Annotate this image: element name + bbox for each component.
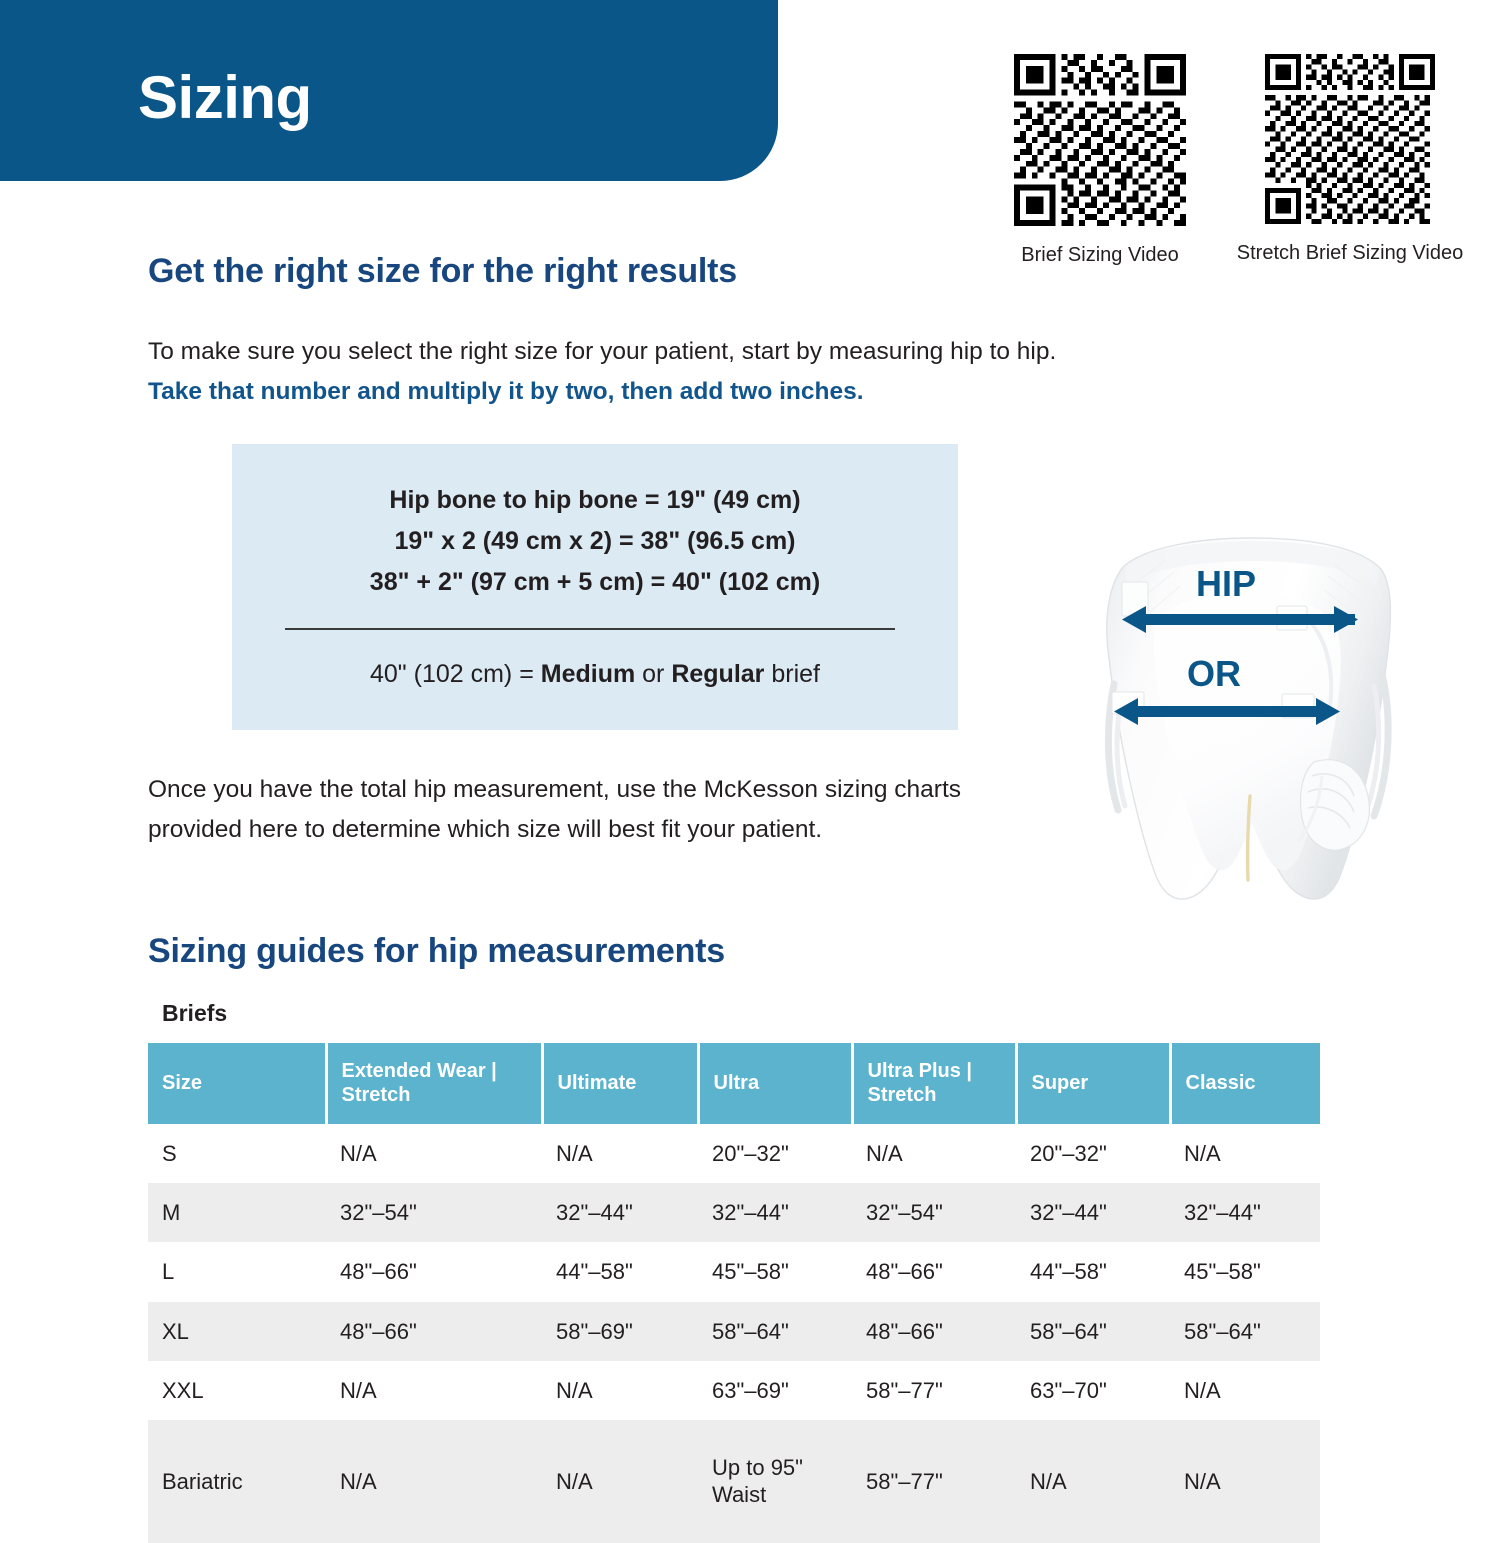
sizing-guides-heading: Sizing guides for hip measurements [148,932,725,971]
column-header-classic: Classic [1170,1043,1320,1124]
calc-result-suffix: brief [764,660,820,688]
brief-diagram-icon: HIP OR [1062,524,1438,910]
cell-size: M [148,1183,326,1242]
calc-result-size: Medium [541,660,635,688]
cell-size: S [148,1124,326,1183]
table-row: XXL N/A N/A 63"–69" 58"–77" 63"–70" N/A [148,1361,1320,1420]
cell-classic: N/A [1170,1361,1320,1420]
qr-caption: Stretch Brief Sizing Video [1180,240,1500,266]
cell-classic: 45"–58" [1170,1242,1320,1301]
cell-ultra-plus: N/A [852,1124,1016,1183]
cell-extended-wear: N/A [326,1420,542,1543]
calc-divider [285,628,895,630]
calc-line-3: 38" + 2" (97 cm + 5 cm) = 40" (102 cm) [232,570,958,595]
cell-ultra-plus: 48"–66" [852,1242,1016,1301]
table-row: XL 48"–66" 58"–69" 58"–64" 48"–66" 58"–6… [148,1302,1320,1361]
calc-result: 40" (102 cm) = Medium or Regular brief [232,662,958,687]
intro-text-normal: To make sure you select the right size f… [148,338,1056,365]
cell-extended-wear: N/A [326,1361,542,1420]
cell-ultra: 63"–69" [698,1361,852,1420]
cell-ultra-plus: 32"–54" [852,1183,1016,1242]
cell-ultimate: N/A [542,1420,698,1543]
table-row: Bariatric N/A N/A Up to 95" Waist 58"–77… [148,1420,1320,1543]
qr-code-icon[interactable] [1265,54,1435,224]
cell-ultimate: N/A [542,1361,698,1420]
cell-super: 58"–64" [1016,1302,1170,1361]
qr-code-icon[interactable] [1014,54,1186,226]
cell-size: Bariatric [148,1420,326,1543]
cell-ultra-plus: 48"–66" [852,1302,1016,1361]
calc-result-conjunction: or [635,660,671,688]
cell-classic: N/A [1170,1124,1320,1183]
or-label: OR [1187,653,1241,694]
cell-extended-wear: N/A [326,1124,542,1183]
column-header-extended-wear-stretch: Extended Wear | Stretch [326,1043,542,1124]
column-header-ultra-plus-stretch: Ultra Plus | Stretch [852,1043,1016,1124]
calc-line-1: Hip bone to hip bone = 19" (49 cm) [232,488,958,513]
qr-block-stretch-brief-sizing-video[interactable]: Stretch Brief Sizing Video [1180,54,1500,266]
cell-size: XL [148,1302,326,1361]
cell-classic: 58"–64" [1170,1302,1320,1361]
cell-ultimate: 32"–44" [542,1183,698,1242]
cell-classic: 32"–44" [1170,1183,1320,1242]
cell-extended-wear: 48"–66" [326,1302,542,1361]
table-row: M 32"–54" 32"–44" 32"–44" 32"–54" 32"–44… [148,1183,1320,1242]
calculation-box: Hip bone to hip bone = 19" (49 cm) 19" x… [232,444,958,730]
cell-ultimate: N/A [542,1124,698,1183]
cell-super: 44"–58" [1016,1242,1170,1301]
intro-text-emphasis: Take that number and multiply it by two,… [148,378,864,405]
cell-size: L [148,1242,326,1301]
column-header-size: Size [148,1043,326,1124]
cell-ultra: Up to 95" Waist [698,1420,852,1543]
calc-result-style: Regular [671,660,764,688]
column-header-ultra: Ultra [698,1043,852,1124]
table-row: L 48"–66" 44"–58" 45"–58" 48"–66" 44"–58… [148,1242,1320,1301]
table-row: S N/A N/A 20"–32" N/A 20"–32" N/A [148,1124,1320,1183]
cell-extended-wear: 48"–66" [326,1242,542,1301]
cell-ultimate: 58"–69" [542,1302,698,1361]
product-illustration: HIP OR [1062,524,1438,910]
cell-super: 63"–70" [1016,1361,1170,1420]
cell-ultra-plus: 58"–77" [852,1420,1016,1543]
briefs-sizing-table: Size Extended Wear | Stretch Ultimate Ul… [148,1043,1320,1543]
cell-ultra: 58"–64" [698,1302,852,1361]
intro-paragraph: To make sure you select the right size f… [148,332,1078,411]
cell-ultra: 20"–32" [698,1124,852,1183]
table-header-row: Size Extended Wear | Stretch Ultimate Ul… [148,1043,1320,1124]
cell-ultimate: 44"–58" [542,1242,698,1301]
closing-paragraph: Once you have the total hip measurement,… [148,770,1048,849]
cell-ultra: 32"–44" [698,1183,852,1242]
cell-ultra-plus: 58"–77" [852,1361,1016,1420]
cell-extended-wear: 32"–54" [326,1183,542,1242]
hip-label: HIP [1196,563,1256,604]
cell-classic: N/A [1170,1420,1320,1543]
cell-size: XXL [148,1361,326,1420]
column-header-ultimate: Ultimate [542,1043,698,1124]
cell-ultra: 45"–58" [698,1242,852,1301]
cell-super: N/A [1016,1420,1170,1543]
calc-line-2: 19" x 2 (49 cm x 2) = 38" (96.5 cm) [232,529,958,554]
cell-super: 32"–44" [1016,1183,1170,1242]
column-header-super: Super [1016,1043,1170,1124]
section-headline: Get the right size for the right results [148,252,737,291]
calc-result-prefix: 40" (102 cm) = [370,660,541,688]
header-banner: Sizing [0,0,778,181]
table-label-briefs: Briefs [162,1000,227,1027]
cell-super: 20"–32" [1016,1124,1170,1183]
page-title: Sizing [138,68,312,128]
